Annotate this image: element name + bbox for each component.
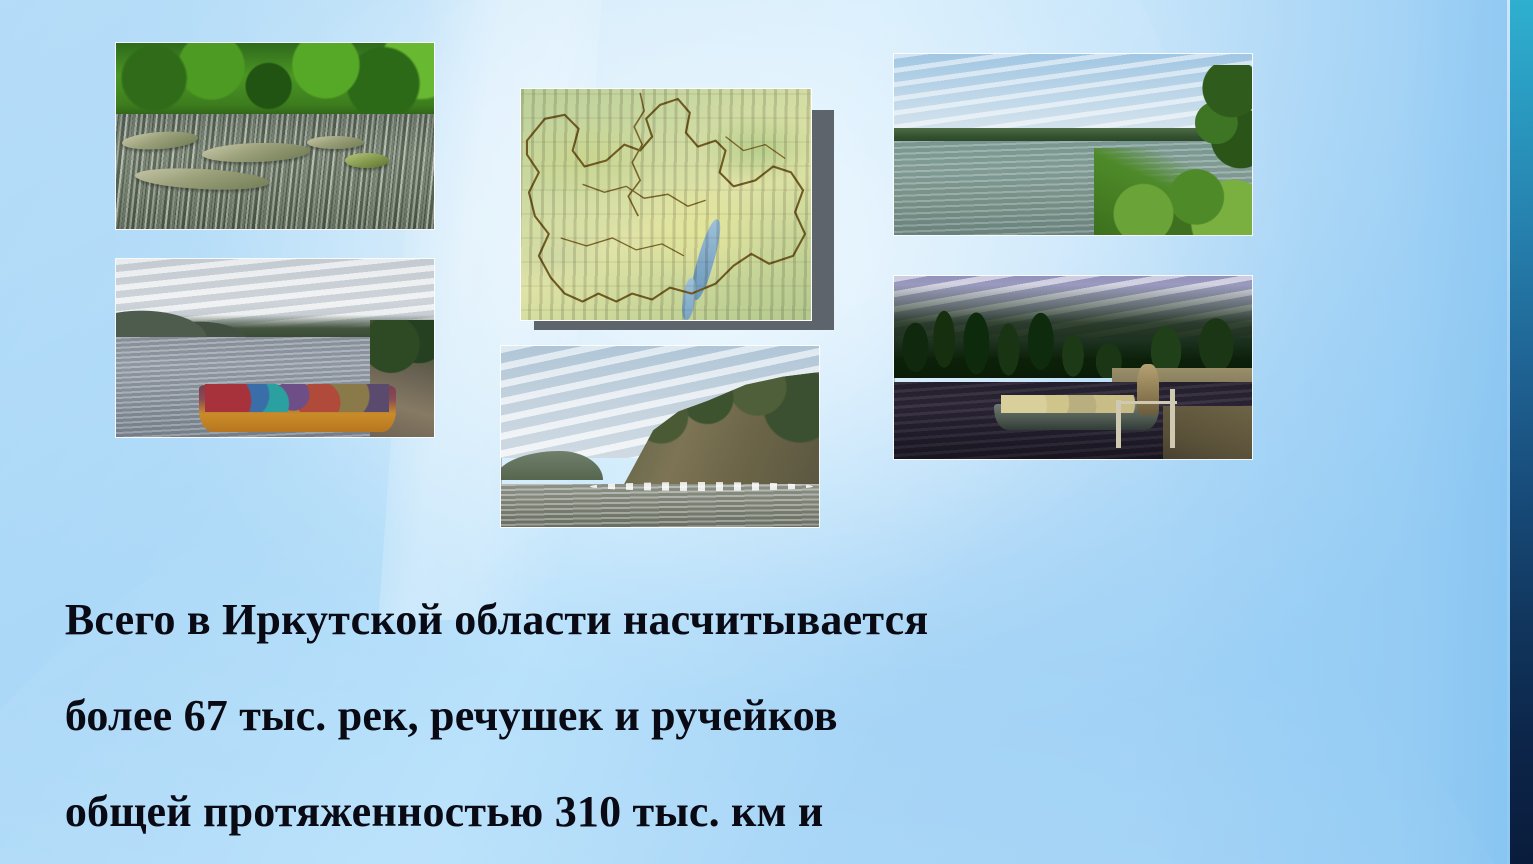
slide: Всего в Иркутской области насчитывается …: [0, 0, 1533, 864]
forest-person: [1137, 364, 1158, 415]
forest-bank-boat-photo: [893, 275, 1253, 460]
wide-river-bushes: [1094, 148, 1253, 236]
rocky-stream-photo: [115, 42, 435, 230]
stream-tree-line: [116, 43, 434, 121]
caption-line-2: более 67 тыс. рек, речушек и ручейков: [65, 691, 838, 740]
stream-rock: [307, 136, 364, 149]
river-cliff-photo: [500, 345, 820, 528]
loaded-raft-photo: [115, 258, 435, 438]
forest-treeline: [894, 276, 1252, 378]
caption-line-3: общей протяженностью 310 тыс. км и: [65, 787, 824, 836]
map-place-labels: [521, 89, 811, 320]
forest-dock-post: [1170, 389, 1175, 448]
forest-dock-post: [1116, 400, 1121, 448]
wide-river-photo: [893, 53, 1253, 236]
irkutsk-oblast-map: [520, 88, 812, 321]
forest-near-shore: [1163, 406, 1254, 460]
cliff-shoreline-foam: [590, 482, 813, 491]
right-edge-accent-strip: [1510, 0, 1533, 864]
caption-line-1: Всего в Иркутской области насчитывается: [65, 595, 929, 644]
forest-dock-rail: [1116, 401, 1177, 404]
stream-rock: [345, 153, 390, 168]
caption-text: Всего в Иркутской области насчитывается …: [20, 548, 1350, 864]
raft-cargo: [205, 384, 389, 412]
